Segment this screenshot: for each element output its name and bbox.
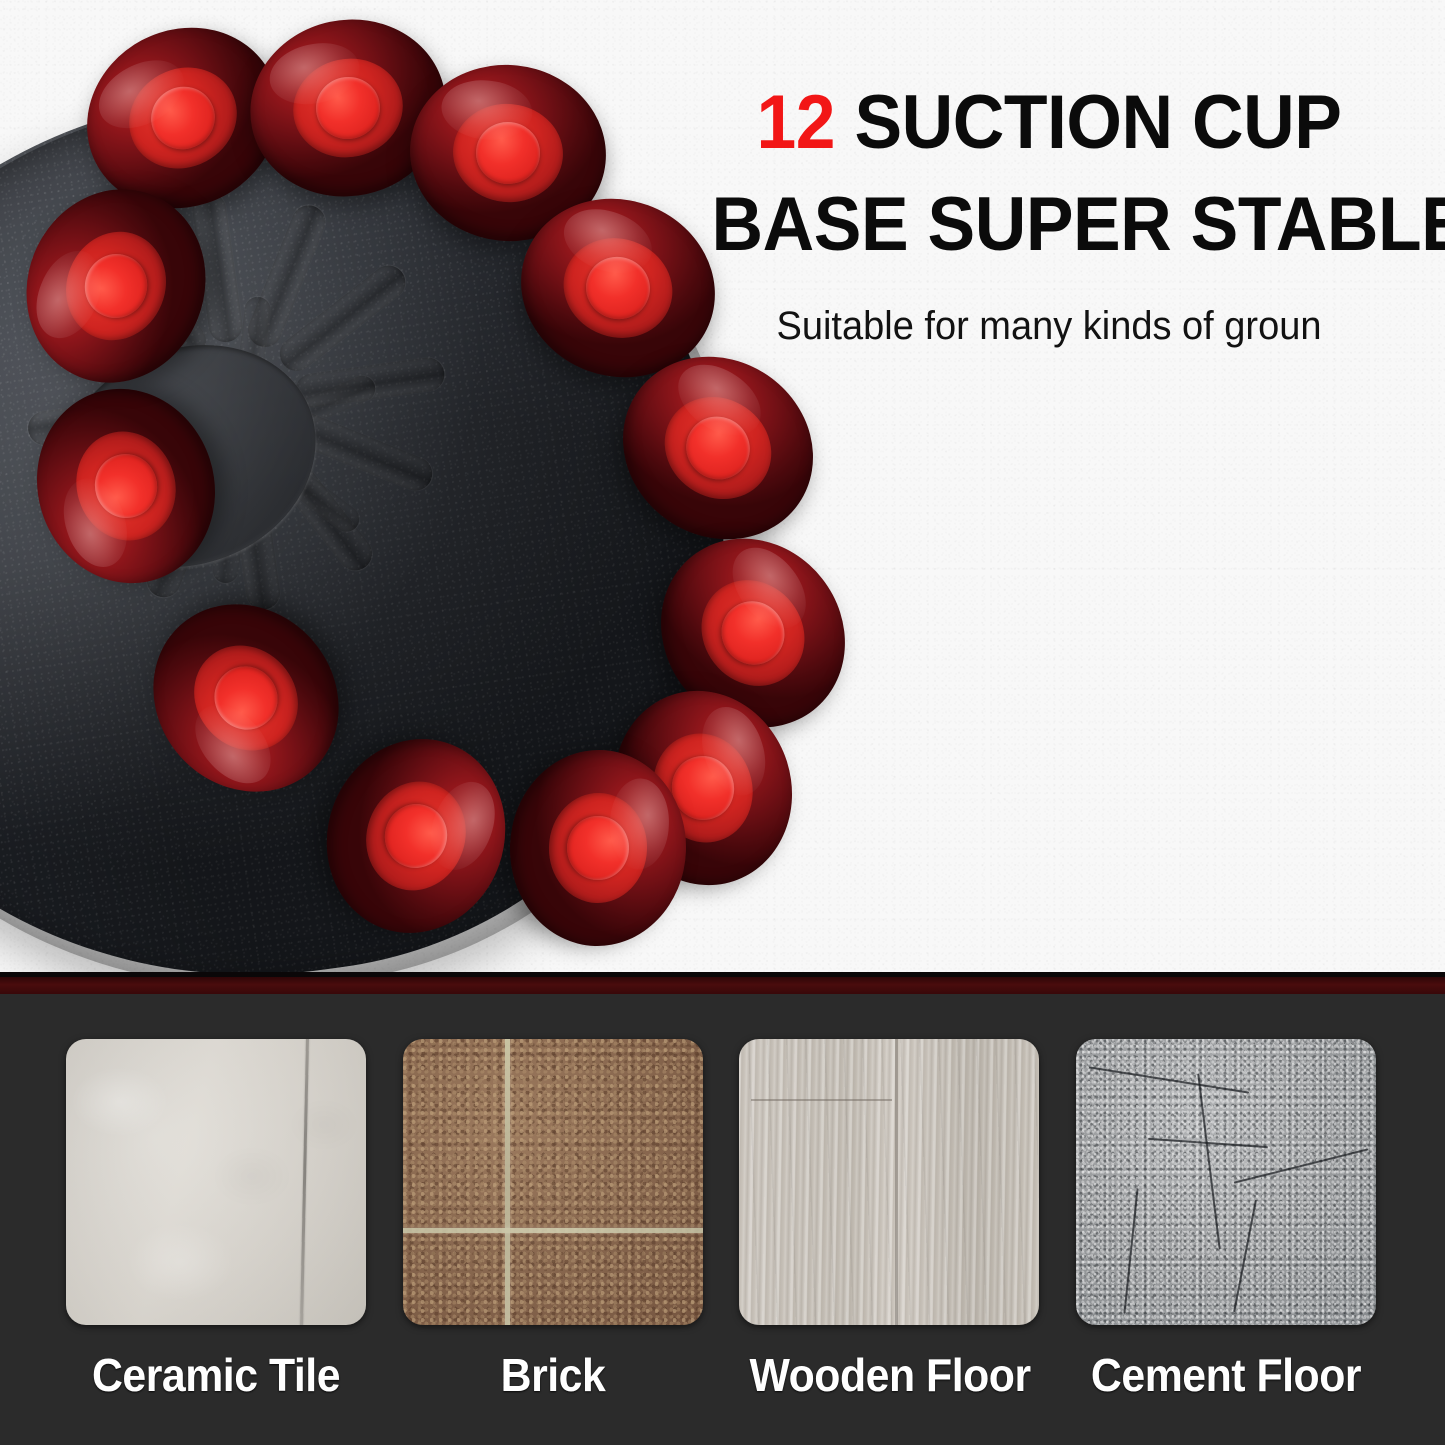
surface-swatch-ceramic-tile	[66, 1039, 366, 1325]
base-rib	[243, 200, 331, 352]
suction-cup-nub	[674, 404, 762, 491]
surface-label-row: Ceramic Tile Brick Wooden Floor Cement F…	[66, 1346, 1376, 1416]
base-rib	[285, 408, 437, 496]
suction-cup-nub	[376, 795, 456, 877]
ceramic-tile-texture	[66, 1039, 366, 1325]
suction-cup-nub	[566, 815, 630, 882]
ceramic-mottle	[66, 1039, 366, 1325]
suction-cup-nub	[310, 71, 386, 145]
base-rib-inner	[235, 295, 273, 393]
headline-line-1: 12 SUCTION CUP	[712, 72, 1387, 174]
suction-cup-nub	[577, 248, 659, 328]
headline-block: 12 SUCTION CUP BASE SUPER STABLE Suitabl…	[690, 72, 1408, 350]
wood-grain-fine	[739, 1039, 1039, 1325]
base-rib-inner	[211, 486, 249, 584]
brick-grout-vertical	[505, 1039, 510, 1325]
surface-label-brick: Brick	[413, 1346, 692, 1416]
suction-cup-nub	[75, 244, 156, 327]
surfaces-panel: Ceramic Tile Brick Wooden Floor Cement F…	[0, 994, 1445, 1445]
base-rib	[260, 438, 379, 577]
surface-swatch-row	[66, 1039, 1376, 1325]
surface-label-wooden-floor: Wooden Floor	[750, 1346, 1029, 1416]
wood-texture	[739, 1039, 1039, 1325]
suction-cup-nub	[140, 76, 226, 161]
headline-line-1-text: SUCTION CUP	[835, 80, 1341, 165]
surface-label-cement-floor: Cement Floor	[1086, 1346, 1365, 1416]
divider-accent-bar	[0, 977, 1445, 994]
base-rib	[293, 355, 446, 410]
brick-grain	[403, 1039, 703, 1325]
surface-swatch-brick	[403, 1039, 703, 1325]
brick-texture	[403, 1039, 703, 1325]
subheadline: Suitable for many kinds of groun	[708, 302, 1390, 350]
base-rib	[273, 259, 412, 378]
cement-grain	[1076, 1039, 1376, 1325]
product-feature-graphic: 12 SUCTION CUP BASE SUPER STABLE Suitabl…	[0, 0, 1445, 1445]
suction-cup-nub	[87, 446, 166, 527]
surface-label-ceramic-tile: Ceramic Tile	[77, 1346, 356, 1416]
surface-swatch-cement-floor	[1076, 1039, 1376, 1325]
surface-swatch-wooden-floor	[739, 1039, 1039, 1325]
cement-texture	[1076, 1039, 1376, 1325]
wood-plank-seam-horizontal	[751, 1099, 892, 1101]
suction-cup-nub	[473, 119, 544, 187]
brick-grout-horizontal	[403, 1228, 703, 1233]
base-rib-inner	[272, 458, 364, 537]
hero-section: 12 SUCTION CUP BASE SUPER STABLE Suitabl…	[0, 0, 1445, 976]
suction-cup-count: 12	[757, 80, 836, 165]
headline-line-2: BASE SUPER STABLE	[712, 174, 1387, 276]
base-rib	[228, 458, 283, 611]
suction-cup-nub	[201, 653, 290, 742]
base-rib-inner	[281, 372, 380, 433]
wood-plank-seam-vertical	[895, 1039, 898, 1325]
suction-cup-nub	[709, 589, 797, 678]
